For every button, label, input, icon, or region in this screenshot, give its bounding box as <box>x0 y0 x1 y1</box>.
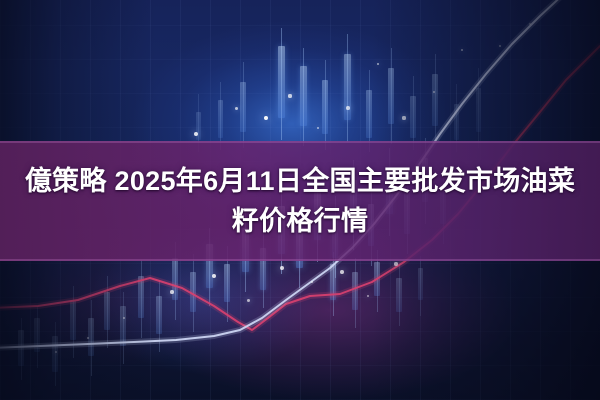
candle-body <box>330 264 336 300</box>
sparkle-dot <box>87 337 89 339</box>
candle-wick <box>220 82 221 150</box>
sparkle-dot <box>280 266 284 270</box>
candle-body <box>352 272 358 310</box>
candle-body <box>120 306 126 346</box>
sparkle-dot <box>377 63 380 66</box>
candle-wick <box>91 300 92 376</box>
candle-body <box>156 296 162 334</box>
candle-body <box>396 278 402 312</box>
candle-body <box>344 54 351 120</box>
candle-wick <box>281 28 282 140</box>
candle-body <box>196 112 201 140</box>
sparkle-dot <box>235 107 238 110</box>
candle-body <box>322 80 328 134</box>
sparkle-dot <box>402 116 405 119</box>
candle-wick <box>420 256 421 316</box>
candle-body <box>18 330 24 366</box>
candle-wick <box>413 76 414 150</box>
candle-body <box>172 258 178 300</box>
candle-wick <box>347 34 348 142</box>
candle-body <box>240 82 246 132</box>
candle-wick <box>303 48 304 146</box>
candle-wick <box>399 264 400 326</box>
candle-wick <box>325 60 326 150</box>
sparkle-dot <box>461 49 464 52</box>
candle-body <box>88 318 94 356</box>
candle-wick <box>369 70 370 152</box>
candle-body <box>418 268 423 300</box>
candle-wick <box>73 286 74 358</box>
sparkle-dot <box>247 299 250 302</box>
candle-body <box>366 90 372 138</box>
title-band: 億策略 2025年6月11日全国主要批发市场油菜籽价格行情 <box>0 141 600 261</box>
sparkle-dot <box>264 116 269 121</box>
sparkle-dot <box>55 351 57 353</box>
candle-body <box>138 276 144 318</box>
candle-body <box>70 300 76 340</box>
candle-body <box>432 74 438 126</box>
sparkle-dot <box>311 281 314 284</box>
candle-body <box>34 318 40 352</box>
sparkle-dot <box>394 262 397 265</box>
sparkle-dot <box>288 94 291 97</box>
candle-wick <box>55 322 56 386</box>
candle-wick <box>37 306 38 368</box>
candle-wick <box>243 62 244 148</box>
sparkle-dot <box>367 295 370 298</box>
candle-body <box>52 336 58 372</box>
sparkle-dot <box>499 45 501 47</box>
page-title: 億策略 2025年6月11日全国主要批发市场油菜籽价格行情 <box>0 161 600 241</box>
candle-wick <box>107 276 108 348</box>
candle-wick <box>123 292 124 364</box>
candle-wick <box>391 48 392 144</box>
candle-wick <box>478 68 479 148</box>
candle-body <box>374 262 380 296</box>
candle-wick <box>355 258 356 328</box>
candle-body <box>104 292 110 330</box>
candle-body <box>278 46 285 118</box>
candle-body <box>300 66 307 126</box>
sparkle-dot <box>433 91 435 93</box>
candle-wick <box>21 318 22 380</box>
sparkle-dot <box>346 106 350 110</box>
candle-body <box>190 272 196 312</box>
candle-wick <box>193 254 194 332</box>
sparkle-dot <box>170 290 174 294</box>
candle-wick <box>159 280 160 352</box>
candle-wick <box>141 260 142 338</box>
sparkle-dot <box>317 127 320 130</box>
candle-wick <box>435 54 436 144</box>
article-cover-banner: 億策略 2025年6月11日全国主要批发市场油菜籽价格行情 <box>0 0 600 400</box>
sparkle-dot <box>529 23 531 25</box>
sparkle-dot <box>340 270 344 274</box>
candle-body <box>454 104 459 140</box>
candle-body <box>218 100 223 138</box>
candle-body <box>224 264 230 302</box>
sparkle-dot <box>194 132 198 136</box>
sparkle-dot <box>212 274 216 278</box>
candle-wick <box>333 252 334 316</box>
candle-body <box>476 88 481 132</box>
candle-body <box>388 68 394 124</box>
candle-body <box>410 96 416 138</box>
sparkle-dot <box>123 317 126 320</box>
